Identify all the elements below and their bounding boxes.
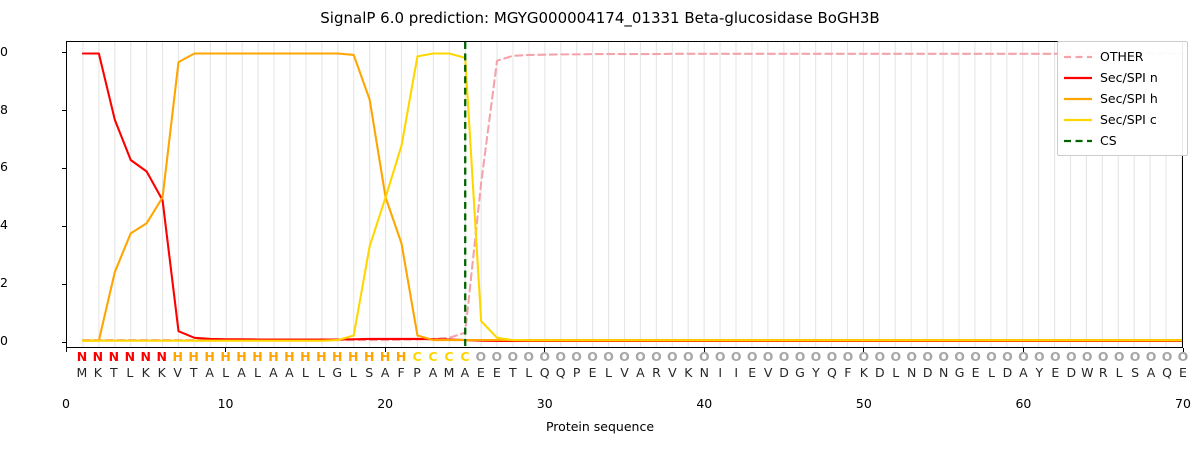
legend-label: Sec/SPI c bbox=[1100, 112, 1157, 127]
series-line bbox=[83, 54, 1182, 341]
y-tick-label: 0.6 bbox=[0, 159, 8, 174]
signalp-prediction-figure: SignalP 6.0 prediction: MGYG000004174_01… bbox=[0, 0, 1200, 450]
legend-swatch-icon bbox=[1063, 114, 1093, 126]
sequence-track: NMNKNTNLNKNKHVHTHAHLHAHLHAHAHLHLHGHLHSHA… bbox=[66, 349, 1183, 385]
legend-item-sec-spi-c[interactable]: Sec/SPI c bbox=[1063, 109, 1182, 130]
legend-swatch-icon bbox=[1063, 51, 1093, 63]
legend-item-cs[interactable]: CS bbox=[1063, 130, 1182, 151]
legend-label: CS bbox=[1100, 133, 1117, 148]
x-tick-label: 70 bbox=[1163, 396, 1200, 411]
legend-label: Sec/SPI n bbox=[1100, 70, 1158, 85]
x-tick-label: 0 bbox=[46, 396, 86, 411]
series-line bbox=[83, 54, 1182, 341]
y-tick-label: 1.0 bbox=[0, 44, 8, 59]
y-tick-label: 0.8 bbox=[0, 102, 8, 117]
series-line bbox=[83, 54, 1182, 341]
legend[interactable]: OTHERSec/SPI nSec/SPI hSec/SPI cCS bbox=[1057, 41, 1188, 156]
plot-canvas bbox=[67, 42, 1182, 347]
legend-item-sec-spi-n[interactable]: Sec/SPI n bbox=[1063, 67, 1182, 88]
region-code: O bbox=[1172, 349, 1194, 365]
series-line bbox=[83, 54, 1182, 341]
chart-title: SignalP 6.0 prediction: MGYG000004174_01… bbox=[0, 8, 1200, 28]
legend-item-other[interactable]: OTHER bbox=[1063, 46, 1182, 67]
x-tick-label: 50 bbox=[844, 396, 884, 411]
legend-swatch-icon bbox=[1063, 135, 1093, 147]
legend-item-sec-spi-h[interactable]: Sec/SPI h bbox=[1063, 88, 1182, 109]
x-tick-label: 30 bbox=[525, 396, 565, 411]
y-tick-label: 0.4 bbox=[0, 217, 8, 232]
legend-label: Sec/SPI h bbox=[1100, 91, 1158, 106]
legend-swatch-icon bbox=[1063, 93, 1093, 105]
x-tick-label: 60 bbox=[1003, 396, 1043, 411]
x-tick-label: 20 bbox=[365, 396, 405, 411]
y-tick-label: 0.0 bbox=[0, 333, 8, 348]
legend-swatch-icon bbox=[1063, 72, 1093, 84]
x-tick-label: 10 bbox=[206, 396, 246, 411]
x-tick-label: 40 bbox=[684, 396, 724, 411]
plot-area bbox=[66, 41, 1183, 348]
x-axis-label: Protein sequence bbox=[0, 419, 1200, 434]
legend-label: OTHER bbox=[1100, 49, 1143, 64]
y-tick-label: 0.2 bbox=[0, 275, 8, 290]
amino-acid: E bbox=[1172, 365, 1194, 381]
